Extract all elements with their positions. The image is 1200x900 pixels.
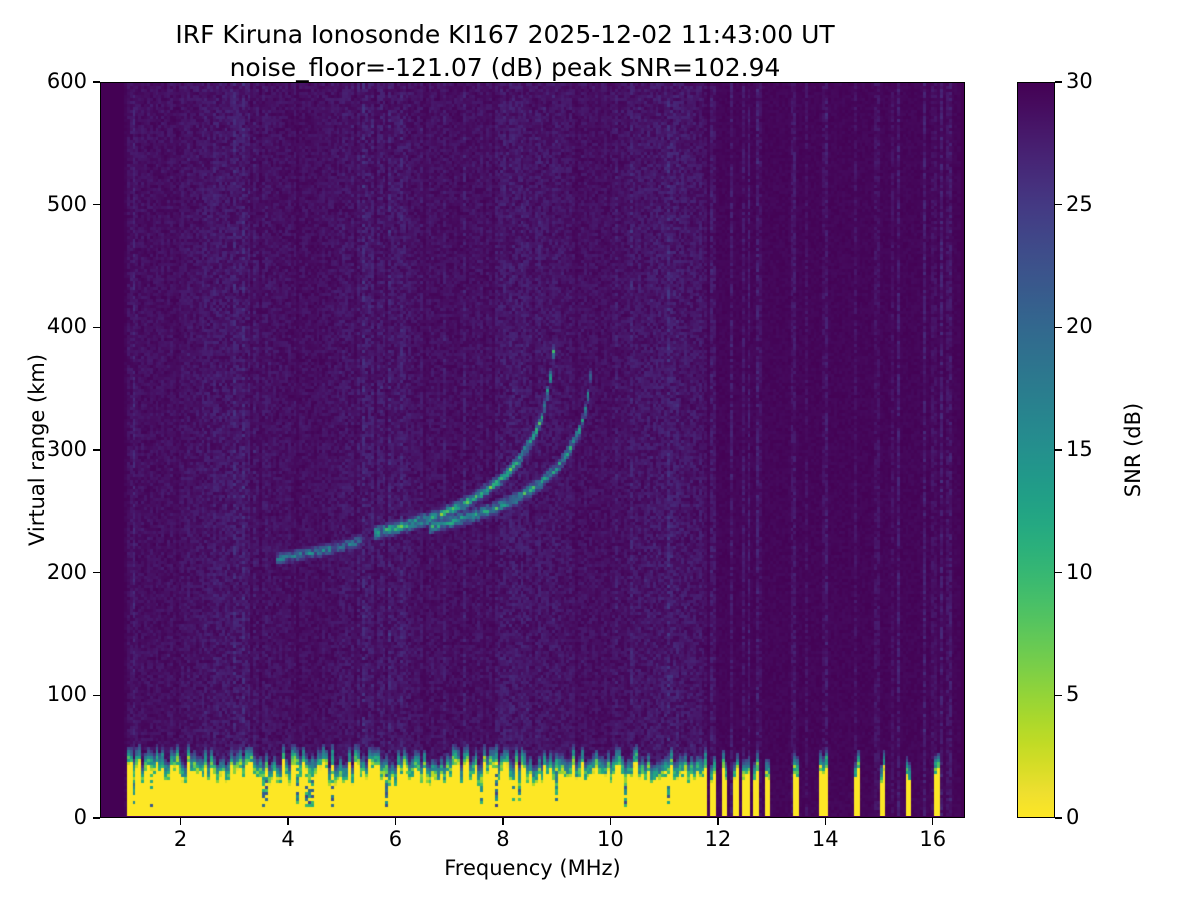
colorbar-tick-label: 30 [1066,71,1093,92]
colorbar-tick-label: 10 [1066,562,1093,583]
y-tick-label: 400 [0,316,87,337]
colorbar-gradient [1018,83,1054,817]
title-line-1: IRF Kiruna Ionosonde KI167 2025-12-02 11… [175,20,834,49]
x-tick-label: 6 [389,829,402,850]
colorbar-tick-mark [1055,572,1062,573]
y-tick-label: 500 [0,194,87,215]
title-line-2: noise_floor=-121.07 (dB) peak SNR=102.94 [0,51,1010,84]
x-tick-label: 2 [174,829,187,850]
y-tick-label: 200 [0,562,87,583]
colorbar-tick-label: 15 [1066,439,1093,460]
figure-title: IRF Kiruna Ionosonde KI167 2025-12-02 11… [0,18,1010,84]
x-tick-label: 4 [281,829,294,850]
x-tick-mark [180,818,181,825]
y-tick-label: 300 [0,439,87,460]
x-tick-mark [610,818,611,825]
colorbar [1017,82,1055,818]
colorbar-tick-mark [1055,327,1062,328]
x-tick-mark [825,818,826,825]
figure-root: IRF Kiruna Ionosonde KI167 2025-12-02 11… [0,0,1200,900]
y-tick-mark [93,449,100,450]
x-tick-label: 14 [812,829,839,850]
x-tick-label: 8 [496,829,509,850]
colorbar-tick-mark [1055,817,1062,818]
x-axis-label: Frequency (MHz) [100,856,965,880]
colorbar-tick-label: 25 [1066,194,1093,215]
x-tick-mark [717,818,718,825]
colorbar-label: SNR (dB) [1121,403,1145,497]
colorbar-tick-mark [1055,449,1062,450]
colorbar-tick-mark [1055,695,1062,696]
x-tick-label: 10 [597,829,624,850]
y-tick-label: 100 [0,684,87,705]
y-tick-mark [93,695,100,696]
x-tick-label: 12 [704,829,731,850]
x-tick-mark [395,818,396,825]
x-tick-mark [502,818,503,825]
y-tick-mark [93,572,100,573]
y-tick-mark [93,817,100,818]
y-tick-mark [93,81,100,82]
colorbar-tick-mark [1055,204,1062,205]
y-tick-mark [93,327,100,328]
x-tick-mark [932,818,933,825]
colorbar-tick-label: 20 [1066,316,1093,337]
y-tick-mark [93,204,100,205]
colorbar-tick-label: 5 [1066,684,1079,705]
ionogram-heatmap-canvas [101,83,963,816]
ionogram-plot-area [100,82,965,818]
y-tick-label: 600 [0,71,87,92]
colorbar-tick-label: 0 [1066,807,1079,828]
x-tick-label: 16 [919,829,946,850]
x-tick-mark [287,818,288,825]
y-tick-label: 0 [0,807,87,828]
colorbar-tick-mark [1055,81,1062,82]
